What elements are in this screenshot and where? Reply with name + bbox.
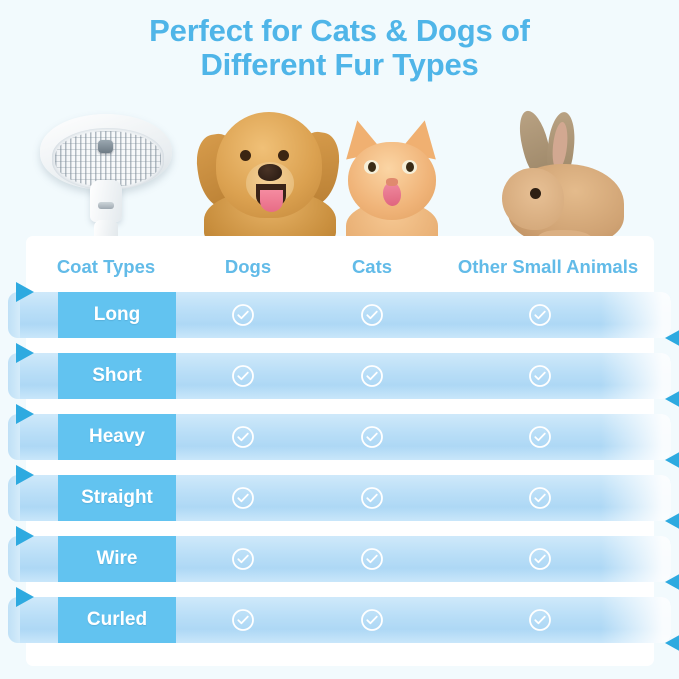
- table-row: Curled: [0, 591, 679, 649]
- check-circle-icon-dogs: [231, 547, 255, 571]
- check-circle-icon-dogs: [231, 364, 255, 388]
- ribbon-fold-left-icon: [16, 526, 34, 546]
- check-circle-icon-dogs: [231, 425, 255, 449]
- ribbon-fold-right-icon: [665, 389, 679, 409]
- ribbon-banner: Heavy: [8, 414, 671, 460]
- check-circle-icon-dogs: [231, 303, 255, 327]
- brush-neck: [90, 180, 122, 222]
- dog-eye-right: [278, 150, 289, 161]
- ribbon-fold-right-icon: [665, 328, 679, 348]
- ribbon-fold-right-icon: [665, 572, 679, 592]
- check-circle-icon-other-small-animals: [528, 425, 552, 449]
- rabbit-eye: [530, 188, 541, 199]
- coat-type-chip-heavy[interactable]: Heavy: [58, 414, 176, 460]
- ribbon-banner: Long: [8, 292, 671, 338]
- column-header-cats: Cats: [352, 256, 392, 278]
- dog-tongue: [260, 190, 283, 212]
- ribbon-banner: Curled: [8, 597, 671, 643]
- check-circle-icon-other-small-animals: [528, 547, 552, 571]
- table-row: Straight: [0, 469, 679, 527]
- check-circle-icon-cats: [360, 364, 384, 388]
- cat-nose: [386, 178, 398, 186]
- coat-type-chip-long[interactable]: Long: [58, 292, 176, 338]
- rabbit-photo-image: [500, 110, 632, 248]
- check-circle-icon-cats: [360, 547, 384, 571]
- brush-port: [98, 202, 114, 209]
- photo-band: [0, 96, 679, 248]
- ribbon-banner: Short: [8, 353, 671, 399]
- check-circle-icon-other-small-animals: [528, 303, 552, 327]
- dog-nose: [258, 164, 282, 181]
- ribbon-fold-left-icon: [16, 404, 34, 424]
- ribbon-fold-left-icon: [16, 587, 34, 607]
- title-line-1: Perfect for Cats & Dogs of: [149, 13, 530, 48]
- check-circle-icon-other-small-animals: [528, 486, 552, 510]
- ribbon-fold-left-icon: [16, 343, 34, 363]
- coat-type-chip-straight[interactable]: Straight: [58, 475, 176, 521]
- check-circle-icon-cats: [360, 486, 384, 510]
- ribbon-fold-right-icon: [665, 633, 679, 653]
- cat-pupil-left: [368, 162, 376, 172]
- check-circle-icon-dogs: [231, 608, 255, 632]
- ribbon-banner: Wire: [8, 536, 671, 582]
- column-header-other-small-animals: Other Small Animals: [458, 256, 638, 278]
- brush-head: [40, 114, 172, 190]
- ribbon-fold-left-icon: [16, 282, 34, 302]
- table-row: Wire: [0, 530, 679, 588]
- page-title: Perfect for Cats & Dogs of Different Fur…: [0, 14, 679, 82]
- check-circle-icon-cats: [360, 303, 384, 327]
- ribbon-fold-right-icon: [665, 511, 679, 531]
- brush-release-button: [98, 140, 113, 153]
- coat-type-chip-wire[interactable]: Wire: [58, 536, 176, 582]
- pet-grooming-brush-image: [38, 106, 178, 246]
- coat-type-chip-curled[interactable]: Curled: [58, 597, 176, 643]
- coat-type-chip-short[interactable]: Short: [58, 353, 176, 399]
- title-line-2: Different Fur Types: [0, 48, 679, 82]
- check-circle-icon-other-small-animals: [528, 364, 552, 388]
- table-row: Long: [0, 286, 679, 344]
- check-circle-icon-cats: [360, 608, 384, 632]
- ribbon-fold-right-icon: [665, 450, 679, 470]
- table-row: Heavy: [0, 408, 679, 466]
- column-header-coat-types: Coat Types: [57, 256, 155, 278]
- ribbon-fold-left-icon: [16, 465, 34, 485]
- infographic-root: Perfect for Cats & Dogs of Different Fur…: [0, 0, 679, 679]
- cat-pupil-right: [406, 162, 414, 172]
- table-row: Short: [0, 347, 679, 405]
- check-circle-icon-cats: [360, 425, 384, 449]
- dog-photo-image: [196, 104, 346, 248]
- check-circle-icon-dogs: [231, 486, 255, 510]
- ribbon-banner: Straight: [8, 475, 671, 521]
- column-header-dogs: Dogs: [225, 256, 271, 278]
- rabbit-head: [502, 168, 564, 230]
- cat-photo-image: [336, 120, 448, 248]
- check-circle-icon-other-small-animals: [528, 608, 552, 632]
- dog-eye-left: [240, 150, 251, 161]
